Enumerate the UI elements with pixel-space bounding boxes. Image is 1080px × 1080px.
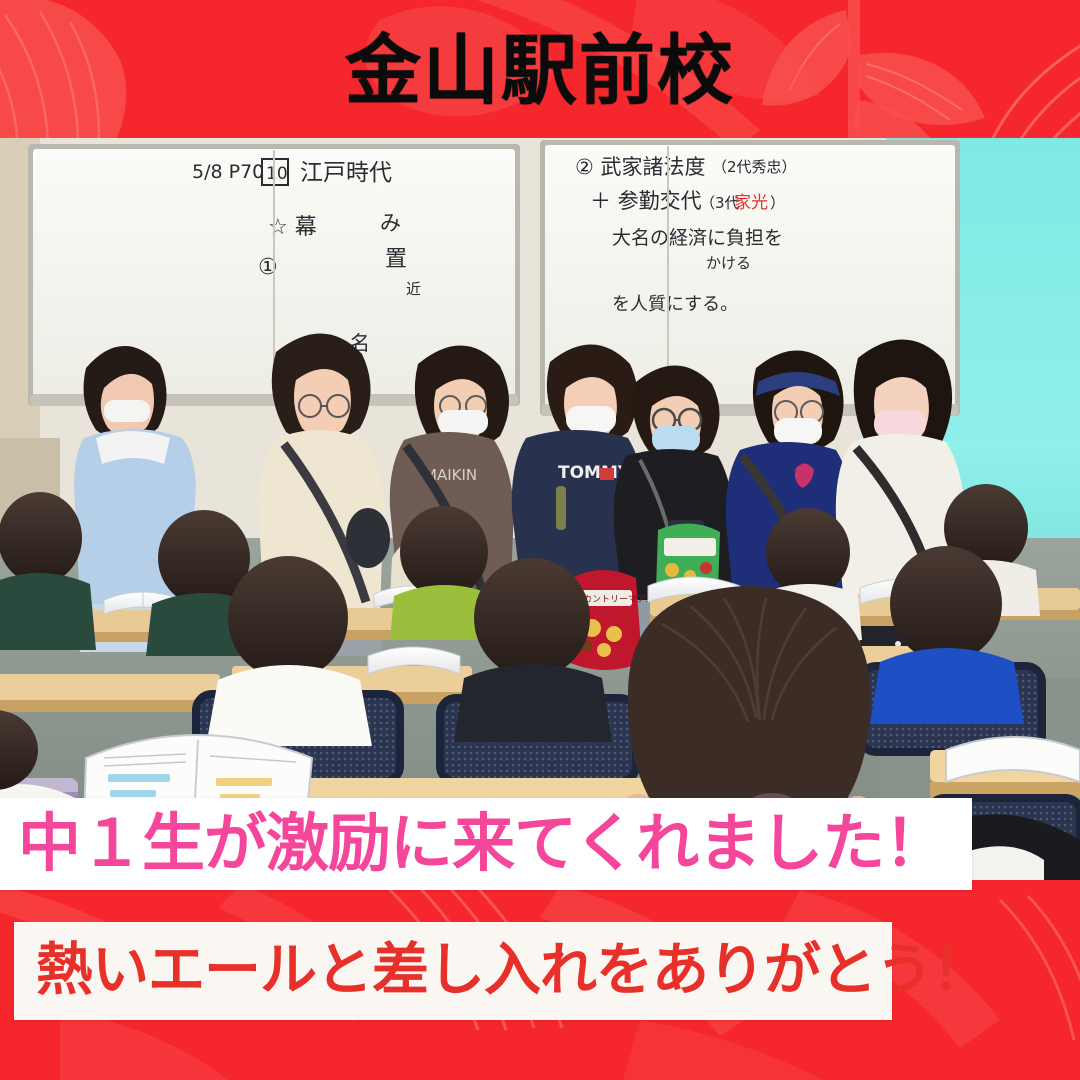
svg-text:を人質にする。: を人質にする。: [612, 294, 738, 315]
svg-text:（2代秀忠）: （2代秀忠）: [712, 158, 797, 176]
caption-text-primary: 中１生が激励に来てくれました！: [18, 812, 946, 875]
svg-text:② 武家諸法度: ② 武家諸法度: [575, 155, 706, 179]
classroom-photo: 5/8 P70 10 江戸時代 ☆ 幕 み ① 置 近 名: [0, 138, 1080, 880]
svg-text:み: み: [380, 211, 401, 235]
svg-text:江戸時代: 江戸時代: [300, 160, 392, 186]
svg-text:＋ 参勤交代: ＋ 参勤交代: [590, 189, 702, 213]
caption-banner-secondary: 熱いエールと差し入れをありがとう！: [14, 922, 892, 1020]
svg-text:☆ 幕: ☆ 幕: [268, 215, 317, 240]
svg-text:近: 近: [406, 280, 421, 298]
classroom-photo-illustration: 5/8 P70 10 江戸時代 ☆ 幕 み ① 置 近 名: [0, 138, 1080, 880]
poster-root: 金山駅前校: [0, 0, 1080, 1080]
page-title: 金山駅前校: [345, 33, 735, 109]
svg-text:5/8 P70: 5/8 P70: [192, 161, 264, 183]
caption-banner-primary: 中１生が激励に来てくれました！: [0, 798, 972, 890]
svg-text:置: 置: [385, 247, 407, 272]
svg-text:カントリーマアム: カントリーマアム: [583, 594, 654, 605]
svg-text:10: 10: [266, 164, 288, 184]
poster-title-bar: 金山駅前校: [0, 0, 1080, 138]
caption-text-secondary: 熱いエールと差し入れをありがとう！: [36, 942, 988, 999]
svg-text:）: ）: [770, 194, 785, 212]
svg-text:家光: 家光: [734, 193, 768, 213]
svg-text:大名の経済に負担を: 大名の経済に負担を: [612, 227, 783, 249]
svg-text:かける: かける: [706, 254, 751, 272]
